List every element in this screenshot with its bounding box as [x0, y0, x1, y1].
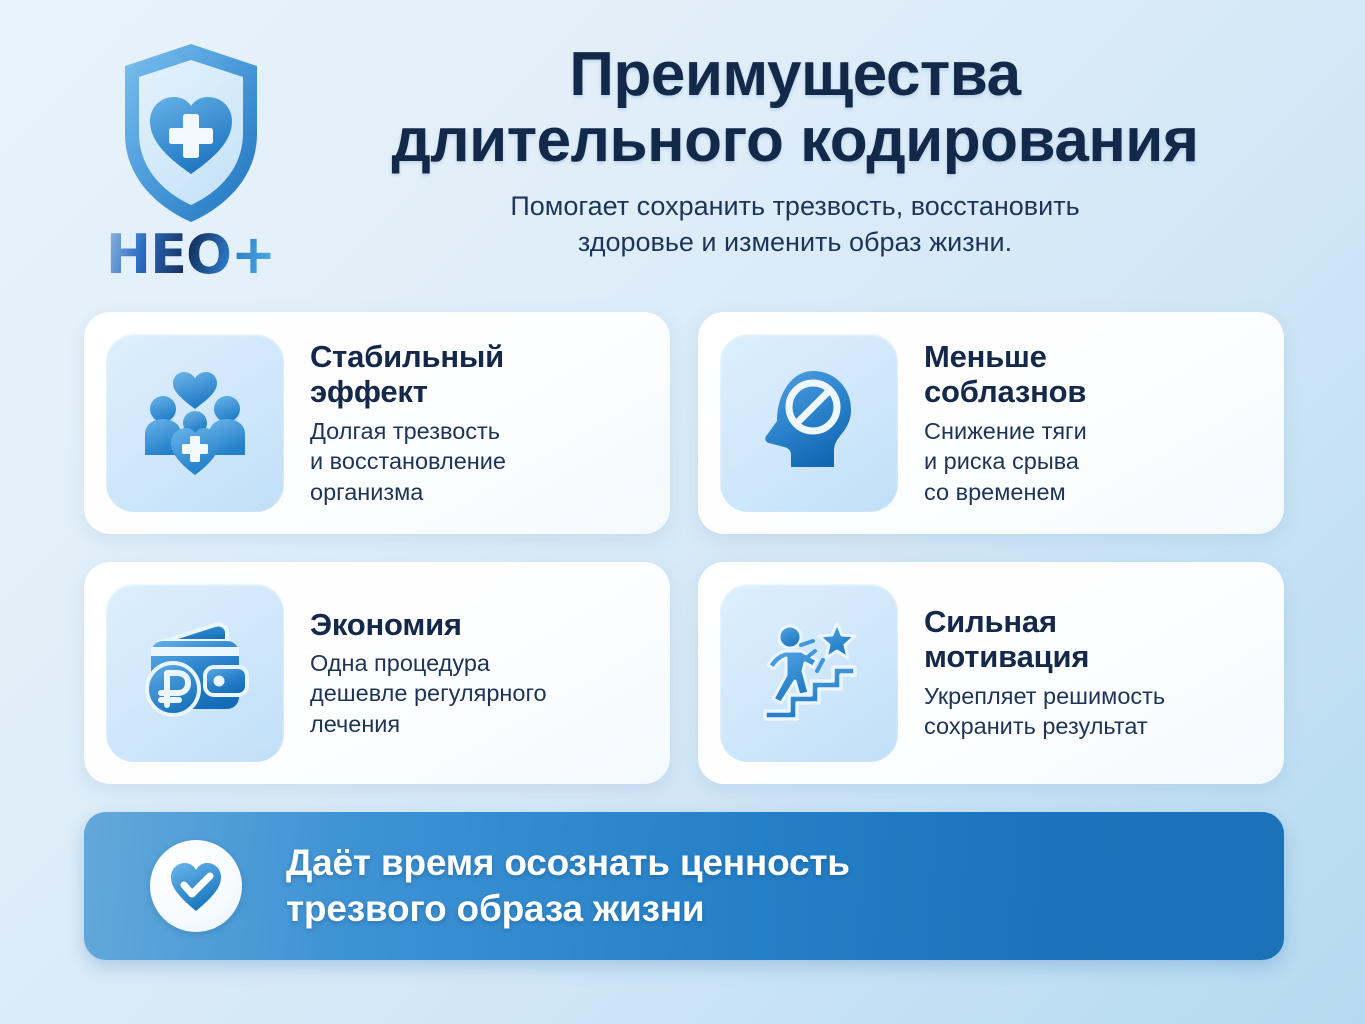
- icon-tile: [720, 334, 898, 512]
- card-desc-line2: и восстановление: [310, 448, 506, 474]
- card-title-line1: Меньше: [924, 339, 1047, 374]
- brand-name: НЕО+: [106, 228, 275, 282]
- benefit-card-fewer-temptations[interactable]: Меньше соблазнов Снижение тяги и риска с…: [698, 312, 1284, 534]
- card-desc-line1: Одна процедура: [310, 650, 490, 676]
- brand-logo: НЕО+: [78, 40, 303, 282]
- title-block: Преимущества длительного кодирования Пом…: [300, 42, 1290, 261]
- banner-text-line2: трезвого образа жизни: [286, 886, 850, 932]
- card-title-line1: Сильная: [924, 604, 1057, 639]
- page-title: Преимущества длительного кодирования: [300, 42, 1290, 173]
- page-subtitle-line2: здоровье и изменить образ жизни.: [300, 225, 1290, 261]
- card-desc-line1: Долгая трезвость: [310, 418, 500, 444]
- header: НЕО+ Преимущества длительного кодировани…: [0, 0, 1365, 305]
- wallet-ruble-icon: [129, 607, 261, 739]
- card-desc-line2: и риска срыва: [924, 448, 1079, 474]
- page-title-line2: длительного кодирования: [300, 108, 1290, 174]
- icon-tile: [106, 334, 284, 512]
- card-description: Укрепляет решимость сохранить результат: [924, 681, 1165, 742]
- person-stairs-star-icon: [743, 607, 875, 739]
- card-desc-line3: лечения: [310, 711, 400, 737]
- footer-banner[interactable]: Даёт время осознать ценность трезвого об…: [84, 812, 1284, 960]
- card-title: Стабильный эффект: [310, 339, 506, 410]
- card-title-line2: мотивация: [924, 639, 1089, 674]
- card-description: Снижение тяги и риска срыва со временем: [924, 416, 1087, 508]
- family-heart-plus-icon: [129, 357, 261, 489]
- banner-icon-circle: [150, 840, 242, 932]
- benefits-grid: Стабильный эффект Долгая трезвость и вос…: [84, 312, 1284, 784]
- page-title-line1: Преимущества: [569, 40, 1020, 109]
- card-text: Стабильный эффект Долгая трезвость и вос…: [284, 339, 510, 507]
- infographic-page: НЕО+ Преимущества длительного кодировани…: [0, 0, 1365, 1024]
- benefit-card-savings[interactable]: Экономия Одна процедура дешевле регулярн…: [84, 562, 670, 784]
- card-desc-line1: Укрепляет решимость: [924, 683, 1165, 709]
- shield-heart-plus-icon: [117, 40, 265, 226]
- card-desc-line1: Снижение тяги: [924, 418, 1087, 444]
- benefit-card-motivation[interactable]: Сильная мотивация Укрепляет решимость со…: [698, 562, 1284, 784]
- benefit-card-stable-effect[interactable]: Стабильный эффект Долгая трезвость и вос…: [84, 312, 670, 534]
- card-desc-line3: со временем: [924, 479, 1066, 505]
- banner-text: Даёт время осознать ценность трезвого об…: [286, 840, 850, 932]
- card-title-line2: соблазнов: [924, 374, 1086, 409]
- page-subtitle: Помогает сохранить трезвость, восстанови…: [300, 189, 1290, 261]
- card-title: Экономия: [310, 607, 547, 642]
- card-title: Сильная мотивация: [924, 604, 1165, 675]
- icon-tile: [720, 584, 898, 762]
- card-title-line2: эффект: [310, 374, 428, 409]
- page-subtitle-line1: Помогает сохранить трезвость, восстанови…: [510, 191, 1079, 221]
- head-prohibition-icon: [743, 357, 875, 489]
- card-description: Одна процедура дешевле регулярного лечен…: [310, 648, 547, 740]
- heart-check-circle-icon: [167, 857, 225, 915]
- card-desc-line3: организма: [310, 479, 423, 505]
- card-description: Долгая трезвость и восстановление органи…: [310, 416, 506, 508]
- card-text: Меньше соблазнов Снижение тяги и риска с…: [898, 339, 1091, 507]
- card-title: Меньше соблазнов: [924, 339, 1087, 410]
- card-title-line1: Стабильный: [310, 339, 504, 374]
- card-desc-line2: сохранить результат: [924, 713, 1148, 739]
- card-text: Сильная мотивация Укрепляет решимость со…: [898, 604, 1169, 742]
- icon-tile: [106, 584, 284, 762]
- banner-text-line1: Даёт время осознать ценность: [286, 842, 850, 883]
- card-desc-line2: дешевле регулярного: [310, 680, 547, 706]
- card-text: Экономия Одна процедура дешевле регулярн…: [284, 607, 551, 740]
- card-title-line1: Экономия: [310, 607, 462, 642]
